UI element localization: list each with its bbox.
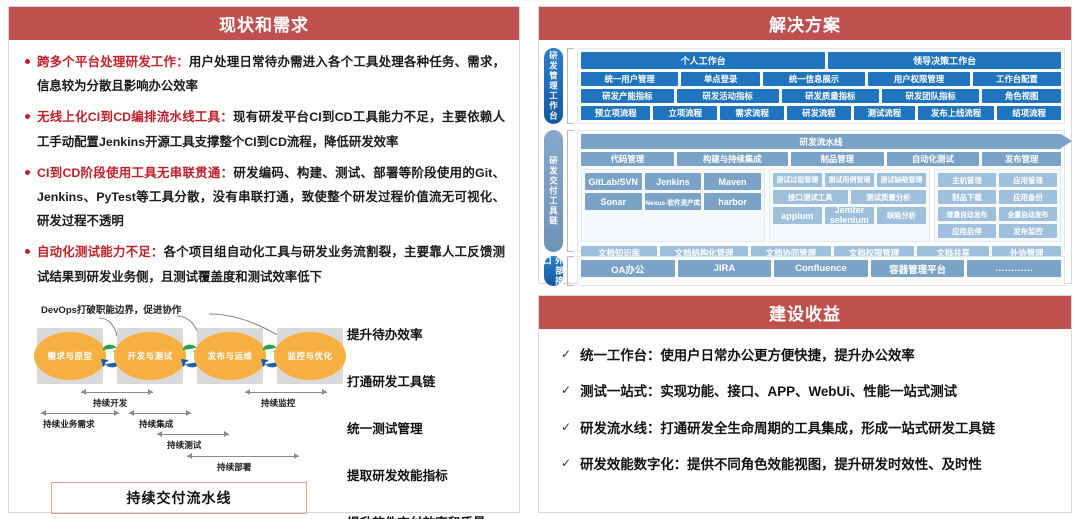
requirement-bullet-list: 跨多个平台处理研发工作：用户处理日常待办需进入各个工具处理各种任务、需求，信息较… — [9, 40, 519, 289]
benefit-item: 提升软件交付效率和质量 — [347, 512, 517, 519]
tool-harbor[interactable]: harbor — [704, 193, 761, 210]
tool-test-process[interactable]: 测试过程管理 — [773, 173, 822, 187]
tool-api-test[interactable]: 接口测试工具 — [773, 190, 848, 204]
cell-requirement-flow[interactable]: 需求流程 — [720, 106, 784, 120]
benefit-text: 测试一站式：实现功能、接口、APP、WebUi、性能一站式测试 — [580, 383, 957, 400]
flow-arrow — [81, 392, 153, 393]
test-tool-row: 测试过程管理 测试用例管理 测试缺陷管理 — [773, 173, 926, 187]
external-container-platform[interactable]: 容器管理平台 — [871, 260, 965, 277]
external-more[interactable]: ………… — [967, 260, 1061, 277]
flow-arrow — [129, 413, 191, 414]
tool-jmeter-selenium[interactable]: Jemter selenium — [825, 207, 874, 224]
deploy-tool-row: 应用启停 发布监控 — [938, 224, 1057, 238]
cell-quality-metric[interactable]: 研发质量指标 — [782, 89, 879, 103]
external-confluence[interactable]: Confluence — [774, 260, 868, 277]
bullet-lead: 无线上化CI到CD编排流水线工具： — [37, 110, 233, 124]
solution-panel-title: 解决方案 — [539, 7, 1071, 40]
cell-activity-metric[interactable]: 研发活动指标 — [677, 89, 779, 103]
workbench-personal[interactable]: 个人工作台 — [581, 52, 825, 69]
stage-build-ci[interactable]: 构建与持续集成 — [677, 152, 788, 166]
cell-sso[interactable]: 单点登录 — [681, 72, 760, 86]
benefits-list: ✓ 统一工作台：使用户日常办公更方便快捷，提升办公效率 ✓ 测试一站式：实现功能… — [539, 329, 1071, 474]
test-tool-row: appium Jemter selenium 缺陷分析 — [773, 207, 926, 224]
left-panel-title: 现状和需求 — [9, 7, 519, 40]
benefit-item: 提升待办效率 — [347, 324, 517, 343]
cell-unified-user-mgmt[interactable]: 统一用户管理 — [581, 72, 678, 86]
cell-release-flow[interactable]: 发布上线流程 — [918, 106, 994, 120]
stage-oval-label: 发布与运维 — [194, 332, 266, 380]
deploy-tool-column: 主机管理 应用管理 制品下载 应用备份 增量自动发布 全量自动发布 应用启停 — [934, 169, 1061, 242]
stage-oval-label: 开发与测试 — [114, 332, 186, 380]
cell-closing-flow[interactable]: 结项流程 — [997, 106, 1061, 120]
flow-arrow — [157, 434, 229, 435]
tool-maven[interactable]: Maven — [704, 173, 761, 190]
benefit-row: ✓ 研发效能数字化：提供不同角色效能视图，提升研发时效性、及时性 — [561, 456, 1049, 473]
tool-test-case[interactable]: 测试用例管理 — [825, 173, 874, 187]
pipeline-bar: 研发流水线 — [581, 134, 1061, 149]
external-group: OA办公 JIRA Confluence 容器管理平台 ………… — [577, 256, 1065, 286]
benefit-row: ✓ 测试一站式：实现功能、接口、APP、WebUi、性能一站式测试 — [561, 383, 1049, 400]
cell-role-view[interactable]: 角色视图 — [982, 89, 1061, 103]
test-tool-row: 接口测试工具 测试质量分析 — [773, 190, 926, 204]
stage-card: 开发与测试 — [117, 328, 183, 384]
benefit-text: 统一工作台：使用户日常办公更方便快捷，提升办公效率 — [580, 347, 915, 364]
benefits-panel-title: 建设收益 — [539, 296, 1071, 329]
bullet-item: 无线上化CI到CD编排流水线工具：现有研发平台CI到CD工具能力不足，主要依赖人… — [23, 105, 505, 153]
tool-appium[interactable]: appium — [773, 207, 822, 224]
workbench-group: 个人工作台 领导决策工作台 统一用户管理 单点登录 统一信息展示 用户权限管理 … — [577, 48, 1065, 124]
flow-arrow-label: 持续业务需求 — [43, 418, 95, 430]
bullet-item: 自动化测试能力不足：各个项目组自动化工具与研发业务流割裂，主要靠人工反馈测试结果… — [23, 240, 505, 288]
tool-defect-analysis[interactable]: 缺陷分析 — [877, 207, 926, 224]
check-icon: ✓ — [561, 383, 571, 399]
cell-workbench-config[interactable]: 工作台配置 — [973, 72, 1061, 86]
side-label-external: 外部接口 — [544, 256, 563, 286]
benefit-text: 研发效能数字化：提供不同角色效能视图，提升研发时效性、及时性 — [580, 456, 982, 473]
tool-full-release[interactable]: 全量自动发布 — [999, 207, 1057, 221]
tool-sonar[interactable]: Sonar — [585, 193, 642, 210]
cell-project-init[interactable]: 立项流程 — [653, 106, 717, 120]
toolchain-group: 研发流水线 代码管理 构建与持续集成 制品管理 自动化测试 发布管理 GitLa… — [577, 130, 1065, 252]
test-tool-column: 测试过程管理 测试用例管理 测试缺陷管理 接口测试工具 测试质量分析 appiu… — [769, 169, 930, 242]
current-state-panel: 现状和需求 跨多个平台处理研发工作：用户处理日常待办需进入各个工具处理各种任务、… — [8, 6, 520, 513]
side-label-workbench: 研发管理工作台 — [544, 48, 563, 124]
pipeline-stage-row: 代码管理 构建与持续集成 制品管理 自动化测试 发布管理 — [581, 152, 1061, 166]
deploy-tool-row: 主机管理 应用管理 — [938, 173, 1057, 187]
benefit-label-list: 提升待办效率 打通研发工具链 统一测试管理 提取研发效能指标 提升软件交付效率和… — [347, 324, 517, 519]
lifecycle-stage-row: 需求与原型 开发与测试 发布与运维 — [37, 328, 337, 384]
benefit-row: ✓ 研发流水线：打通研发全生命周期的工具集成，形成一站式研发工具链 — [561, 420, 1049, 437]
flow-arrow — [245, 392, 327, 393]
benefits-panel: 建设收益 ✓ 统一工作台：使用户日常办公更方便快捷，提升办公效率 ✓ 测试一站式… — [538, 295, 1072, 513]
flow-arrow-label: 持续部署 — [217, 461, 251, 473]
architecture-diagram: 研发管理工作台 研发交付工具链 外部接口 个人工作台 领导决策工作台 统一用户管… — [539, 40, 1071, 285]
external-jira[interactable]: JIRA — [678, 260, 772, 277]
bullet-lead: CI到CD阶段使用工具无串联贯通： — [37, 166, 233, 180]
benefit-item: 打通研发工具链 — [347, 371, 517, 390]
stage-card: 需求与原型 — [37, 328, 103, 384]
cell-user-permission[interactable]: 用户权限管理 — [868, 72, 970, 86]
tool-app-backup[interactable]: 应用备份 — [999, 190, 1057, 204]
flow-arrow-label: 持续开发 — [93, 397, 127, 409]
flow-arrow — [187, 456, 299, 457]
tool-test-quality[interactable]: 测试质量分析 — [851, 190, 926, 204]
tool-app-startstop[interactable]: 应用启停 — [938, 224, 996, 238]
cell-test-flow[interactable]: 测试流程 — [854, 106, 915, 120]
tool-host-mgmt[interactable]: 主机管理 — [938, 173, 996, 187]
tool-columns: GitLab/SVN Jenkins Maven Sonar Nexus-软件资… — [581, 169, 1061, 242]
benefit-text: 研发流水线：打通研发全生命周期的工具集成，形成一站式研发工具链 — [580, 420, 995, 437]
check-icon: ✓ — [561, 456, 571, 472]
stage-release-mgmt[interactable]: 发布管理 — [982, 152, 1061, 166]
cell-pre-project[interactable]: 预立项流程 — [581, 106, 650, 120]
external-row: OA办公 JIRA Confluence 容器管理平台 ………… — [581, 260, 1061, 277]
scm-tool-row: Sonar Nexus-软件资产库 harbor — [585, 193, 761, 210]
external-oa[interactable]: OA办公 — [581, 260, 675, 277]
stage-card: 监控与优化 — [277, 328, 343, 384]
cell-team-metric[interactable]: 研发团队指标 — [882, 89, 979, 103]
benefit-item: 提取研发效能指标 — [347, 465, 517, 484]
tool-gitlab-svn[interactable]: GitLab/SVN — [585, 173, 642, 190]
bracket-external — [567, 256, 574, 286]
cell-capacity-metric[interactable]: 研发产能指标 — [581, 89, 674, 103]
workbench-process-row: 预立项流程 立项流程 需求流程 研发流程 测试流程 发布上线流程 结项流程 — [581, 106, 1061, 120]
flow-arrow — [41, 413, 119, 414]
flow-arrow-label: 持续集成 — [139, 418, 173, 430]
cell-unified-info[interactable]: 统一信息展示 — [763, 72, 865, 86]
workbench-user-row: 统一用户管理 单点登录 统一信息展示 用户权限管理 工作台配置 — [581, 72, 1061, 86]
stage-oval-label: 监控与优化 — [274, 332, 346, 380]
tool-test-defect[interactable]: 测试缺陷管理 — [877, 173, 926, 187]
stage-auto-test[interactable]: 自动化测试 — [887, 152, 980, 166]
continuous-delivery-box: 持续交付流水线 — [51, 482, 307, 514]
tool-selenium-label: selenium — [830, 216, 869, 225]
bullet-lead: 跨多个平台处理研发工作： — [37, 55, 189, 69]
stage-code-mgmt[interactable]: 代码管理 — [581, 152, 674, 166]
side-label-toolchain: 研发交付工具链 — [544, 130, 563, 252]
bullet-lead: 自动化测试能力不足： — [37, 245, 164, 259]
stage-artifact-mgmt[interactable]: 制品管理 — [791, 152, 884, 166]
check-icon: ✓ — [561, 420, 571, 436]
stage-oval-label: 需求与原型 — [34, 332, 106, 380]
flow-arrow-label: 持续测试 — [167, 439, 201, 451]
workbench-leader[interactable]: 领导决策工作台 — [828, 52, 1061, 69]
tool-artifact-download[interactable]: 制品下载 — [938, 190, 996, 204]
deploy-tool-row: 制品下载 应用备份 — [938, 190, 1057, 204]
tool-incremental-release[interactable]: 增量自动发布 — [938, 207, 996, 221]
bullet-item: 跨多个平台处理研发工作：用户处理日常待办需进入各个工具处理各种任务、需求，信息较… — [23, 50, 505, 98]
tool-nexus[interactable]: Nexus-软件资产库 — [645, 193, 702, 210]
workbench-metrics-row: 研发产能指标 研发活动指标 研发质量指标 研发团队指标 角色视图 — [581, 89, 1061, 103]
tool-release-monitor[interactable]: 发布监控 — [999, 224, 1057, 238]
bracket-workbench — [567, 48, 574, 124]
scm-tool-row: GitLab/SVN Jenkins Maven — [585, 173, 761, 190]
solution-panel: 解决方案 研发管理工作台 研发交付工具链 外部接口 个人工作台 领导决策工作台 … — [538, 6, 1072, 284]
workbench-top-row: 个人工作台 领导决策工作台 — [581, 52, 1061, 69]
scm-tool-column: GitLab/SVN Jenkins Maven Sonar Nexus-软件资… — [581, 169, 765, 242]
slide-canvas: 现状和需求 跨多个平台处理研发工作：用户处理日常待办需进入各个工具处理各种任务、… — [0, 0, 1080, 519]
check-icon: ✓ — [561, 347, 571, 363]
benefit-row: ✓ 统一工作台：使用户日常办公更方便快捷，提升办公效率 — [561, 347, 1049, 364]
deploy-tool-row: 增量自动发布 全量自动发布 — [938, 207, 1057, 221]
tool-app-mgmt[interactable]: 应用管理 — [999, 173, 1057, 187]
flow-arrow-label: 持续监控 — [261, 397, 295, 409]
tool-jenkins[interactable]: Jenkins — [645, 173, 702, 190]
bullet-item: CI到CD阶段使用工具无串联贯通：研发编码、构建、测试、部署等阶段使用的Git、… — [23, 161, 505, 234]
stage-card: 发布与运维 — [197, 328, 263, 384]
bracket-toolchain — [567, 130, 574, 252]
benefit-item: 统一测试管理 — [347, 418, 517, 437]
devops-lifecycle-diagram: DevOps打破职能边界，促进协作 需求与原型 开发与测试 — [9, 296, 521, 519]
cell-rnd-flow[interactable]: 研发流程 — [787, 106, 851, 120]
